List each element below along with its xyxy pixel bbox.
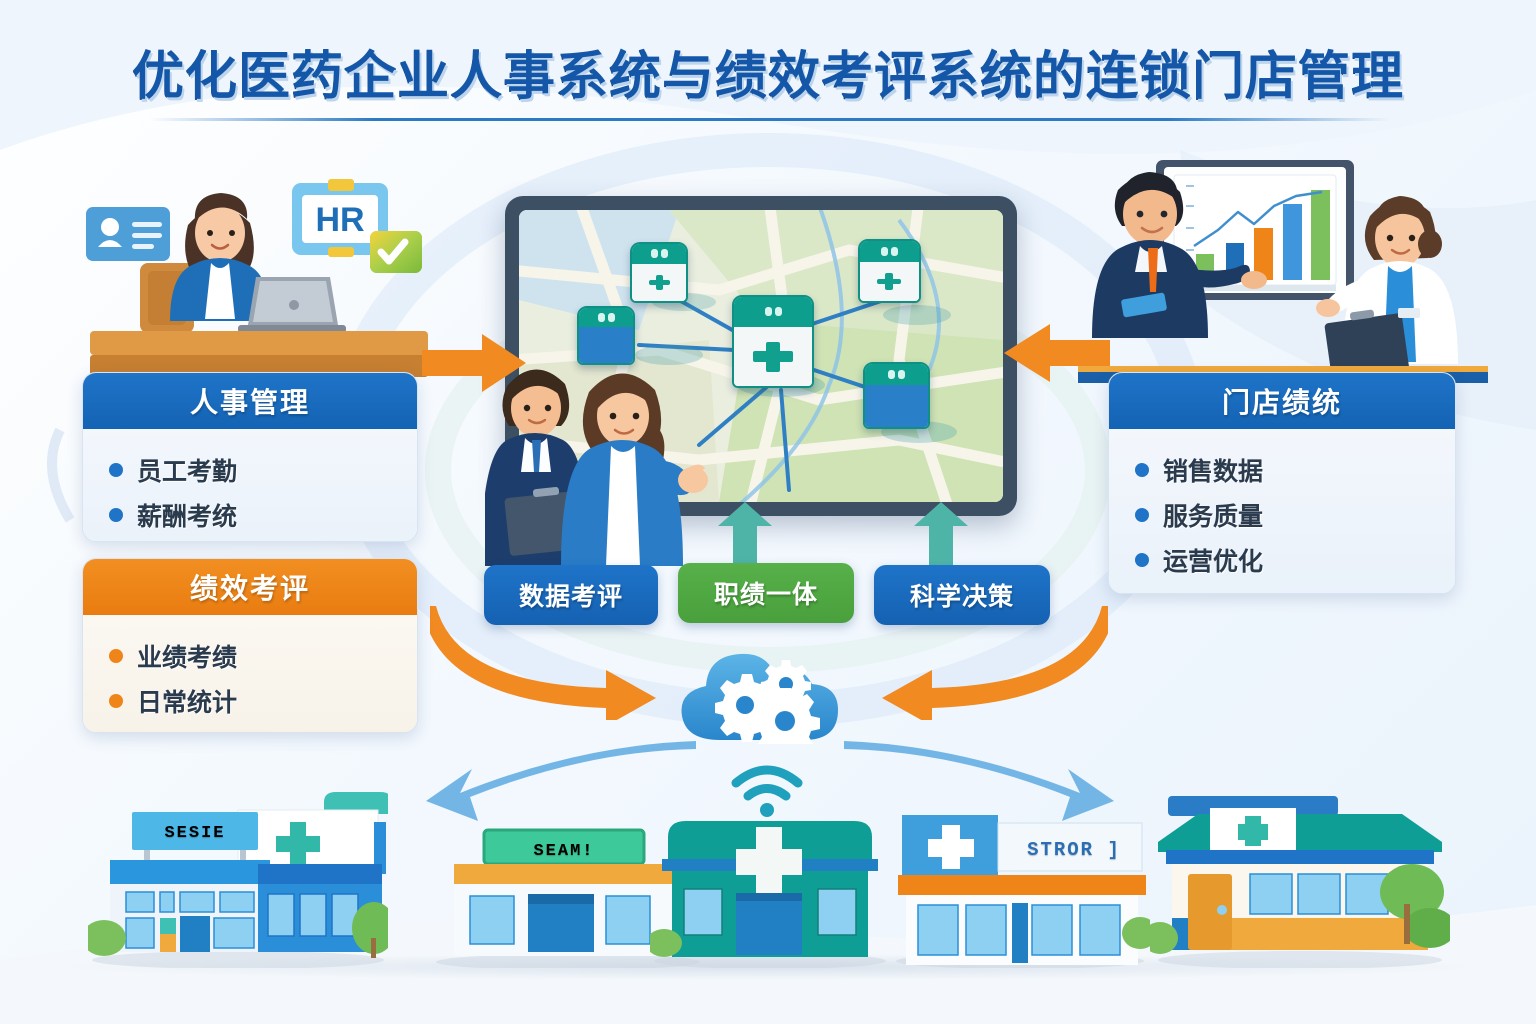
node-body (632, 264, 686, 302)
title-divider (150, 118, 1390, 121)
presenter-woman-illustration (561, 373, 708, 566)
bullet-dot-icon (1135, 553, 1149, 567)
list-item[interactable]: 运营优化 (1135, 542, 1445, 578)
page-title-wrapper: 优化医药企业人事系统与绩效考评系统的连锁门店管理 (0, 34, 1536, 109)
bullet-dot-icon (109, 508, 123, 522)
panel-store-body: 销售数据 服务质量 运营优化 (1109, 429, 1455, 594)
id-card-icon (86, 207, 170, 261)
list-item-label: 销售数据 (1163, 452, 1263, 488)
pharmacy-store-1[interactable]: SESIE (88, 788, 388, 968)
panel-hr-header: 人事管理 (83, 373, 417, 429)
pharmacy-node-bottom-right[interactable] (863, 362, 931, 429)
bullet-dot-icon (1135, 508, 1149, 522)
check-badge-icon (370, 231, 422, 273)
pharmacy-store-4[interactable]: STROR ] (890, 803, 1150, 968)
store-sign-label: SESIE (164, 824, 225, 843)
pharmacy-node-center[interactable] (732, 295, 814, 388)
pharmacy-node-top-right[interactable] (858, 239, 921, 303)
list-item[interactable]: 员工考勤 (109, 452, 407, 488)
panel-store-performance[interactable]: 门店绩统 销售数据 服务质量 运营优化 (1108, 372, 1456, 594)
presenters-scene (485, 352, 735, 567)
panel-kpi-body: 业绩考绩 日常统计 (83, 615, 417, 733)
pill-integration[interactable]: 职绩一体 (678, 563, 854, 623)
node-body (860, 262, 919, 302)
bullet-dot-icon (1135, 463, 1149, 477)
pill-data-evaluation[interactable]: 数据考评 (484, 565, 658, 625)
page-title: 优化医药企业人事系统与绩效考评系统的连锁门店管理 (0, 34, 1536, 109)
node-awning (860, 241, 919, 261)
node-body (734, 327, 812, 386)
hr-desk-scene: HR (80, 165, 440, 380)
list-item[interactable]: 业绩考绩 (109, 638, 407, 674)
panel-store-header: 门店绩统 (1109, 373, 1455, 429)
node-awning (579, 308, 633, 326)
cloud-gears-icon[interactable] (672, 648, 860, 744)
infographic-canvas: 优化医药企业人事系统与绩效考评系统的连锁门店管理 HR (0, 0, 1536, 1024)
list-item[interactable]: 服务质量 (1135, 497, 1445, 533)
cross-icon (750, 339, 795, 373)
panel-kpi-header: 绩效考评 (83, 559, 417, 615)
chart-board-scene (1078, 148, 1488, 383)
list-item[interactable]: 销售数据 (1135, 452, 1445, 488)
panel-hr-management[interactable]: 人事管理 员工考勤 薪酬考统 (82, 372, 418, 542)
list-item[interactable]: 日常统计 (109, 683, 407, 719)
bullet-dot-icon (109, 463, 123, 477)
list-item[interactable]: 薪酬考统 (109, 497, 407, 533)
node-body (865, 385, 929, 427)
pharmacy-store-5[interactable] (1150, 788, 1450, 968)
pharmacy-node-top-left[interactable] (630, 242, 688, 303)
bullet-dot-icon (109, 694, 123, 708)
svg-text:HR: HR (315, 201, 364, 239)
list-item-label: 运营优化 (1163, 542, 1263, 578)
pill-decision-support[interactable]: 科学决策 (874, 565, 1050, 625)
store-sign-label: SEAM! (533, 842, 594, 861)
store-sign-label: STROR ] (1027, 839, 1121, 861)
list-item-label: 薪酬考统 (137, 497, 237, 533)
bullet-dot-icon (109, 649, 123, 663)
node-awning (734, 297, 812, 327)
list-item-label: 日常统计 (137, 683, 237, 719)
node-awning (632, 244, 686, 263)
panel-performance-review[interactable]: 绩效考评 业绩考绩 日常统计 (82, 558, 418, 733)
cross-icon (647, 274, 671, 291)
pharmacy-store-3[interactable] (650, 793, 890, 968)
list-item-label: 服务质量 (1163, 497, 1263, 533)
panel-hr-body: 员工考勤 薪酬考统 (83, 429, 417, 542)
list-item-label: 员工考勤 (137, 452, 237, 488)
desk-icon (90, 331, 428, 377)
list-item-label: 业绩考绩 (137, 638, 237, 674)
cross-icon (876, 272, 903, 290)
node-awning (865, 364, 929, 385)
